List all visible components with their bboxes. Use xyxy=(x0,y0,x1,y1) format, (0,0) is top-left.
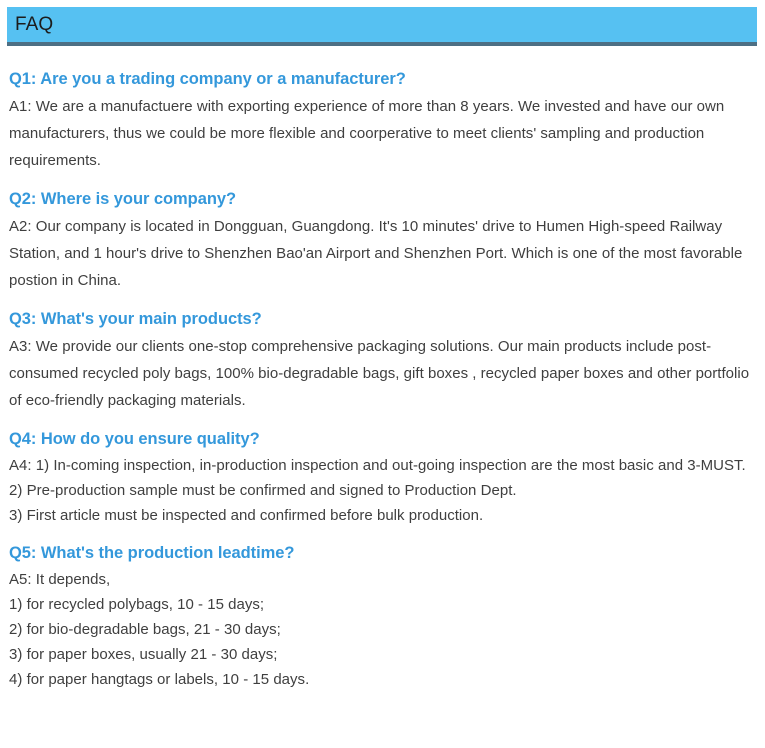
faq-list: Q1: Are you a trading company or a manuf… xyxy=(9,66,754,692)
faq-item-q1: Q1: Are you a trading company or a manuf… xyxy=(9,66,754,174)
faq-page: FAQ Q1: Are you a trading company or a m… xyxy=(0,0,765,748)
faq-answer-q2: A2: Our company is located in Dongguan, … xyxy=(9,213,754,294)
faq-answer-q3: A3: We provide our clients one-stop comp… xyxy=(9,333,754,414)
faq-item-q4: Q4: How do you ensure quality? A4: 1) In… xyxy=(9,426,754,528)
faq-question-q5: Q5: What's the production leadtime? xyxy=(9,540,754,566)
faq-answer-q5-line-1: A5: It depends, xyxy=(9,567,754,592)
faq-header-bar: FAQ xyxy=(7,7,757,46)
faq-answer-q5-line-3: 2) for bio-degradable bags, 21 - 30 days… xyxy=(9,617,754,642)
faq-answer-q5-line-2: 1) for recycled polybags, 10 - 15 days; xyxy=(9,592,754,617)
faq-item-q5: Q5: What's the production leadtime? A5: … xyxy=(9,540,754,692)
faq-question-q1: Q1: Are you a trading company or a manuf… xyxy=(9,66,754,92)
faq-item-q2: Q2: Where is your company? A2: Our compa… xyxy=(9,186,754,294)
faq-answer-q5-line-5: 4) for paper hangtags or labels, 10 - 15… xyxy=(9,667,754,692)
faq-answer-q4-line-1: A4: 1) In-coming inspection, in-producti… xyxy=(9,453,754,478)
faq-question-q2: Q2: Where is your company? xyxy=(9,186,754,212)
faq-answer-q1: A1: We are a manufactuere with exporting… xyxy=(9,93,754,174)
faq-answer-q5-line-4: 3) for paper boxes, usually 21 - 30 days… xyxy=(9,642,754,667)
faq-answer-q4-line-3: 3) First article must be inspected and c… xyxy=(9,503,754,528)
faq-question-q3: Q3: What's your main products? xyxy=(9,306,754,332)
faq-question-q4: Q4: How do you ensure quality? xyxy=(9,426,754,452)
page-title: FAQ xyxy=(15,15,53,34)
faq-answer-q4-line-2: 2) Pre-production sample must be confirm… xyxy=(9,478,754,503)
faq-item-q3: Q3: What's your main products? A3: We pr… xyxy=(9,306,754,414)
